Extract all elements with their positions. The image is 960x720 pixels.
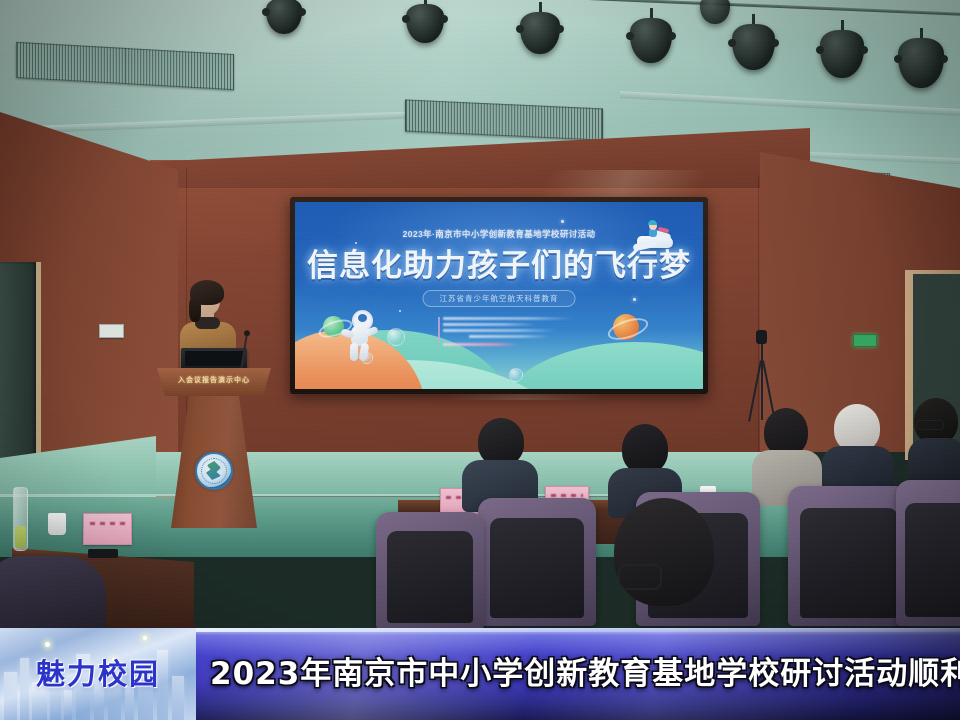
- program-logo-block: 魅力校园: [0, 628, 196, 720]
- stage-light-4: [630, 8, 672, 72]
- bubble-decoration: [387, 328, 405, 346]
- audience-chair: [478, 498, 596, 626]
- info-line: [469, 335, 550, 338]
- astronaut-illustration: [341, 310, 383, 372]
- stage-light-1: [266, 0, 302, 40]
- screen-tagline-pill: 江苏省青少年航空航天科普教育: [423, 290, 576, 307]
- sparkle-icon: [45, 642, 50, 647]
- star-decoration: [399, 310, 401, 312]
- camera-head-icon: [756, 330, 767, 344]
- airplane-illustration: [631, 222, 687, 260]
- info-line: [443, 317, 573, 320]
- info-line: [443, 329, 557, 332]
- astronaut-leg: [350, 343, 358, 361]
- audience-chair: [376, 512, 484, 630]
- stage-light-5: [732, 14, 775, 80]
- astronaut-visor: [358, 314, 367, 322]
- star-decoration: [633, 298, 636, 301]
- projection-screen[interactable]: 2023年·南京市中小学创新教育基地学校研讨活动 信息化助力孩子们的飞行梦 江苏…: [295, 202, 703, 389]
- audience-member: [462, 418, 538, 508]
- kid-cap: [648, 220, 657, 225]
- podium-nameplate: 入会议报告演示中心: [169, 375, 259, 386]
- headline-bar-top-rule: [196, 628, 960, 632]
- info-accent-bar: [438, 317, 440, 343]
- screen-info-block: [443, 317, 573, 349]
- headline-text: 2023年南京市中小学创新教育基地学校研讨活动顺利举行: [210, 648, 950, 693]
- astronaut-leg: [358, 342, 369, 361]
- lower-third-banner: 魅力校园 2023年南京市中小学创新教育基地学校研讨活动顺利举行: [0, 628, 960, 720]
- bubble-decoration: [509, 368, 523, 382]
- broadcast-video-frame: 2023年·南京市中小学创新教育基地学校研讨活动 信息化助力孩子们的飞行梦 江苏…: [0, 0, 960, 720]
- stage-light-8: [700, 0, 730, 26]
- name-card: [83, 513, 132, 545]
- stage-light-3: [520, 2, 560, 62]
- info-line-highlight: [443, 343, 518, 346]
- stage-light-2: [406, 0, 444, 50]
- projection-screen-bezel: 2023年·南京市中小学创新教育基地学校研讨活动 信息化助力孩子们的飞行梦 江苏…: [290, 197, 708, 394]
- sparkle-icon: [143, 636, 147, 640]
- audience-chair: [896, 480, 960, 626]
- water-bottle: [13, 487, 28, 551]
- audience-head: [478, 418, 524, 466]
- foreground-attendee: [600, 498, 728, 630]
- audience-head: [764, 408, 808, 456]
- info-line: [443, 323, 537, 326]
- stage-light-6: [820, 20, 864, 88]
- audience-head: [834, 404, 880, 452]
- wall-outlet-plate-left: [99, 324, 124, 338]
- speaking-podium: 入会议报告演示中心: [155, 368, 273, 528]
- eyeglasses-icon: [916, 420, 944, 430]
- school-crest-icon: [195, 452, 233, 490]
- eyeglasses-icon[interactable]: [618, 564, 662, 590]
- conference-room-photo: 2023年·南京市中小学创新教育基地学校研讨活动 信息化助力孩子们的飞行梦 江苏…: [0, 0, 960, 720]
- program-logo-text: 魅力校园: [0, 651, 196, 693]
- paper-cup: [48, 513, 66, 535]
- stage-light-7: [898, 28, 944, 100]
- star-decoration: [561, 220, 564, 223]
- podium-laptop[interactable]: [181, 348, 247, 370]
- audience-head: [622, 424, 668, 474]
- audience-chair: [788, 486, 910, 626]
- headline-bar: 2023年南京市中小学创新教育基地学校研讨活动顺利举行: [196, 628, 960, 720]
- presenter-hair-side: [189, 296, 201, 322]
- exit-sign: [853, 334, 877, 347]
